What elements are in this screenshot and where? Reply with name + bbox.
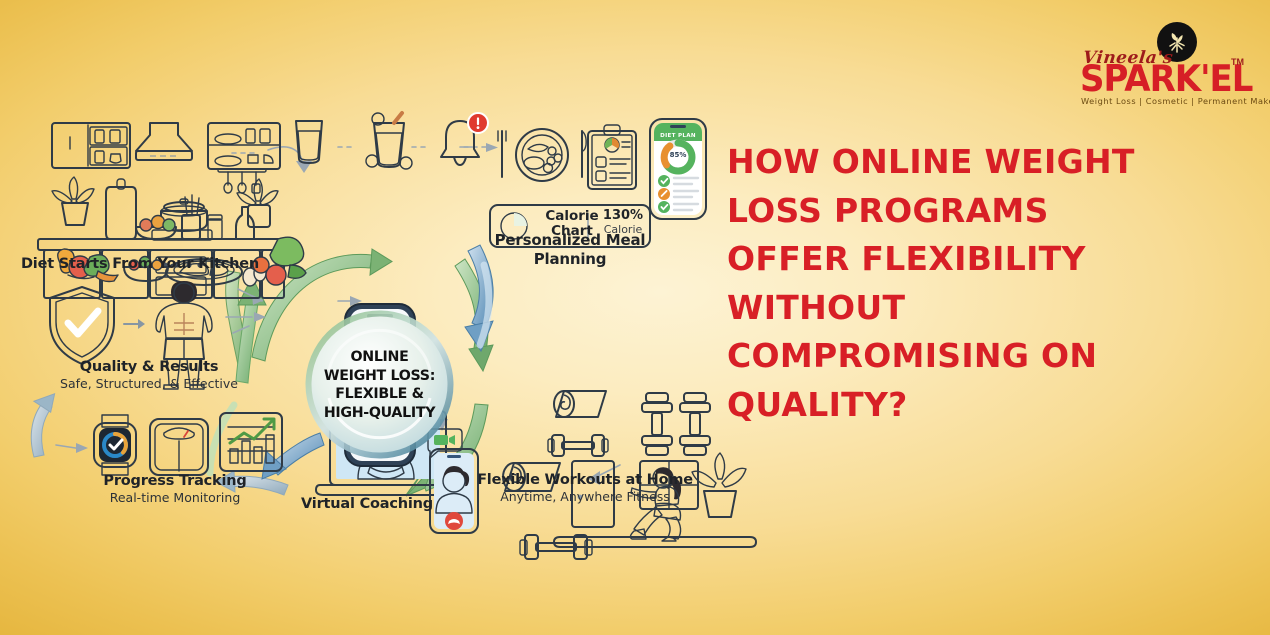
headline-line: WITHOUT xyxy=(727,284,1227,333)
caption-kitchen: Diet Starts From Your Kitchen xyxy=(20,255,260,273)
weighing-scale-icon xyxy=(150,419,208,475)
green-smoothie-icon xyxy=(366,113,412,169)
center-line: WEIGHT LOSS: xyxy=(303,367,456,386)
center-line: HIGH-QUALITY xyxy=(303,404,456,423)
caption-title: Quality & Results xyxy=(44,358,254,376)
smartwatch-icon xyxy=(94,415,136,475)
dumbbell-blue-icon xyxy=(642,393,672,455)
dumbbell-orange-icon xyxy=(680,393,710,455)
notification-bell-icon xyxy=(441,113,488,165)
caption-subtitle: Anytime, Anywhere Fitness xyxy=(460,489,710,505)
caption-subtitle: Real-time Monitoring xyxy=(60,490,290,506)
caption-title: Flexible Workouts at Home xyxy=(460,471,710,489)
caption-title: Diet Starts From Your Kitchen xyxy=(20,255,260,273)
headline-line: HOW ONLINE WEIGHT xyxy=(727,138,1227,187)
center-hub-text: ONLINE WEIGHT LOSS: FLEXIBLE & HIGH-QUAL… xyxy=(303,348,456,422)
brand-logo[interactable]: Vineela's SPARK'EL TM Weight Loss | Cosm… xyxy=(1078,22,1246,98)
brand-wordmark: SPARK'EL xyxy=(1080,61,1252,98)
caption-workouts: Flexible Workouts at Home Anytime, Anywh… xyxy=(460,471,710,505)
caption-meal-planning: Personalized Meal Planning xyxy=(480,231,660,269)
caption-quality-results: Quality & Results Safe, Structured, & Ef… xyxy=(44,358,254,392)
headline-line: OFFER FLEXIBILITY xyxy=(727,235,1227,284)
brand-tagline: Weight Loss | Cosmetic | Permanent Makeu… xyxy=(1081,96,1270,106)
caption-title: Personalized Meal Planning xyxy=(495,231,646,268)
yoga-mat-green-icon xyxy=(554,391,606,417)
caption-virtual-coaching: Virtual Coaching xyxy=(282,495,452,513)
headline-line: LOSS PROGRAMS xyxy=(727,187,1227,236)
arrow-tracking-to-quality xyxy=(31,394,60,457)
clipboard-checklist-icon xyxy=(588,125,636,189)
arrow-right-icon xyxy=(124,319,145,329)
center-line: ONLINE xyxy=(303,348,456,367)
water-glass-icon xyxy=(296,121,322,163)
weight-loss-cycle-infographic: ONLINE WEIGHT LOSS: FLEXIBLE & HIGH-QUAL… xyxy=(20,105,710,535)
page-title: HOW ONLINE WEIGHT LOSS PROGRAMS OFFER FL… xyxy=(727,138,1227,429)
trademark-symbol: TM xyxy=(1231,57,1244,67)
headline-line: QUALITY? xyxy=(727,381,1227,430)
dumbbell-blue-small-icon xyxy=(548,435,608,456)
caption-subtitle: Safe, Structured, & Effective xyxy=(44,376,254,392)
caption-title: Progress Tracking xyxy=(60,472,290,490)
meal-plate-icon xyxy=(498,129,586,181)
caption-title: Virtual Coaching xyxy=(282,495,452,513)
poster-canvas: Vineela's SPARK'EL TM Weight Loss | Cosm… xyxy=(0,0,1270,635)
headline-line: COMPROMISING ON xyxy=(727,332,1227,381)
diet-plan-header: DIET PLAN xyxy=(658,133,698,139)
diet-plan-progress: 85% xyxy=(662,151,694,159)
caption-progress-tracking: Progress Tracking Real-time Monitoring xyxy=(60,472,290,506)
center-line: FLEXIBLE & xyxy=(303,385,456,404)
